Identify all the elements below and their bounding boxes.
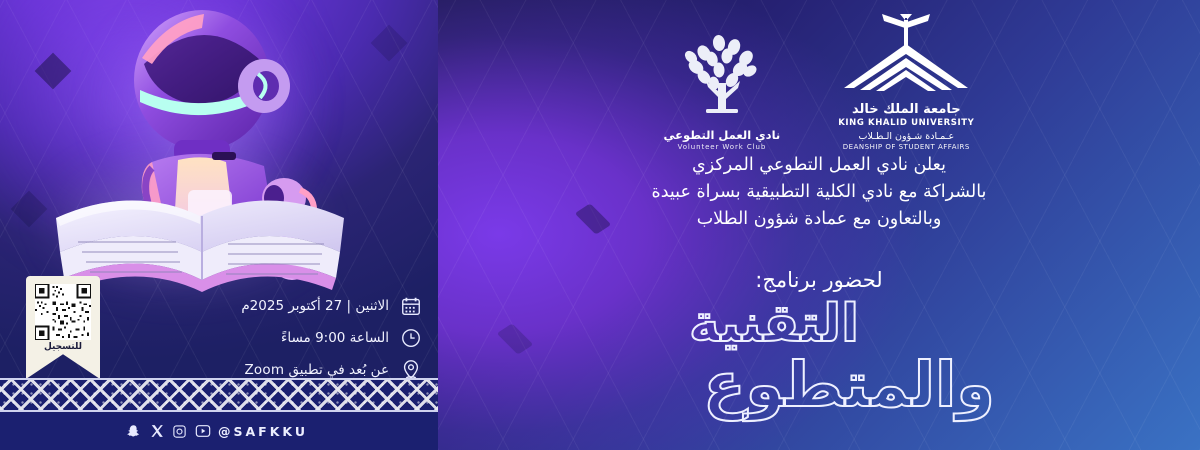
handprint-tree-icon bbox=[674, 25, 770, 125]
announcement-line-2: بالشراكة مع نادي الكلية التطبيقية بسراة … bbox=[438, 179, 1200, 206]
volunteer-club-name-en: Volunteer Work Club bbox=[678, 143, 767, 151]
x-twitter-icon[interactable] bbox=[149, 423, 165, 439]
announcement-line-3: وبالتعاون مع عمادة شؤون الطلاب bbox=[438, 206, 1200, 233]
clock-icon bbox=[398, 325, 424, 351]
deanship-name-ar: عـمـادة شـؤون الـطـلاب bbox=[859, 131, 955, 142]
program-title-line-2: والمتطوع bbox=[438, 352, 1200, 418]
decor-square bbox=[371, 25, 408, 62]
youtube-icon[interactable] bbox=[195, 423, 211, 439]
detail-row-time: الساعة 9:00 مساءً bbox=[124, 322, 424, 354]
social-handle[interactable]: @SAFKKU bbox=[218, 424, 308, 439]
right-panel: نادي العمل التطوعي Volunteer Work Club bbox=[438, 0, 1200, 450]
deanship-name-en: DEANSHIP OF STUDENT AFFAIRS bbox=[843, 143, 970, 151]
program-title-line-1: التقنية bbox=[438, 296, 1200, 352]
kku-name-en: KING KHALID UNIVERSITY bbox=[838, 118, 974, 128]
left-panel: للتسجيل الاثنين | 27 أكتوبر 2025 bbox=[0, 0, 438, 450]
kku-name-ar: جامعة الملك خالد bbox=[852, 102, 961, 117]
event-location-text: عن بُعد في تطبيق Zoom bbox=[244, 362, 389, 378]
event-time-text: الساعة 9:00 مساءً bbox=[281, 330, 389, 346]
social-media-bar: @SAFKKU bbox=[0, 412, 438, 450]
detail-row-date: الاثنين | 27 أكتوبر 2025م bbox=[124, 290, 424, 322]
kku-palm-emblem-icon bbox=[840, 14, 972, 100]
event-poster: للتسجيل الاثنين | 27 أكتوبر 2025 bbox=[0, 0, 1200, 450]
event-details-list: الاثنين | 27 أكتوبر 2025م الساعة 9:00 مس… bbox=[124, 290, 424, 386]
program-prefix: لحضور برنامج: bbox=[438, 268, 1200, 292]
announcement-line-1: يعلن نادي العمل التطوعي المركزي bbox=[438, 152, 1200, 179]
snapchat-icon[interactable] bbox=[126, 423, 142, 439]
volunteer-work-club-logo: نادي العمل التطوعي Volunteer Work Club bbox=[664, 25, 781, 151]
calendar-icon bbox=[398, 293, 424, 319]
sadu-border-pattern bbox=[0, 378, 438, 412]
robot-reading-book-illustration bbox=[52, 2, 352, 302]
registration-qr-code[interactable] bbox=[35, 284, 91, 340]
event-date-text: الاثنين | 27 أكتوبر 2025م bbox=[241, 298, 389, 314]
king-khalid-university-logo: جامعة الملك خالد KING KHALID UNIVERSITY … bbox=[838, 14, 974, 151]
sadu-dots bbox=[0, 380, 438, 410]
qr-label: للتسجيل bbox=[26, 342, 100, 352]
logo-row: نادي العمل التطوعي Volunteer Work Club bbox=[438, 14, 1200, 151]
announcement-text: يعلن نادي العمل التطوعي المركزي بالشراكة… bbox=[438, 152, 1200, 233]
volunteer-club-name-ar: نادي العمل التطوعي bbox=[664, 128, 781, 142]
instagram-icon[interactable] bbox=[172, 423, 188, 439]
program-title: التقنية والمتطوع bbox=[438, 296, 1200, 418]
registration-qr-bookmark[interactable]: للتسجيل bbox=[26, 276, 100, 379]
